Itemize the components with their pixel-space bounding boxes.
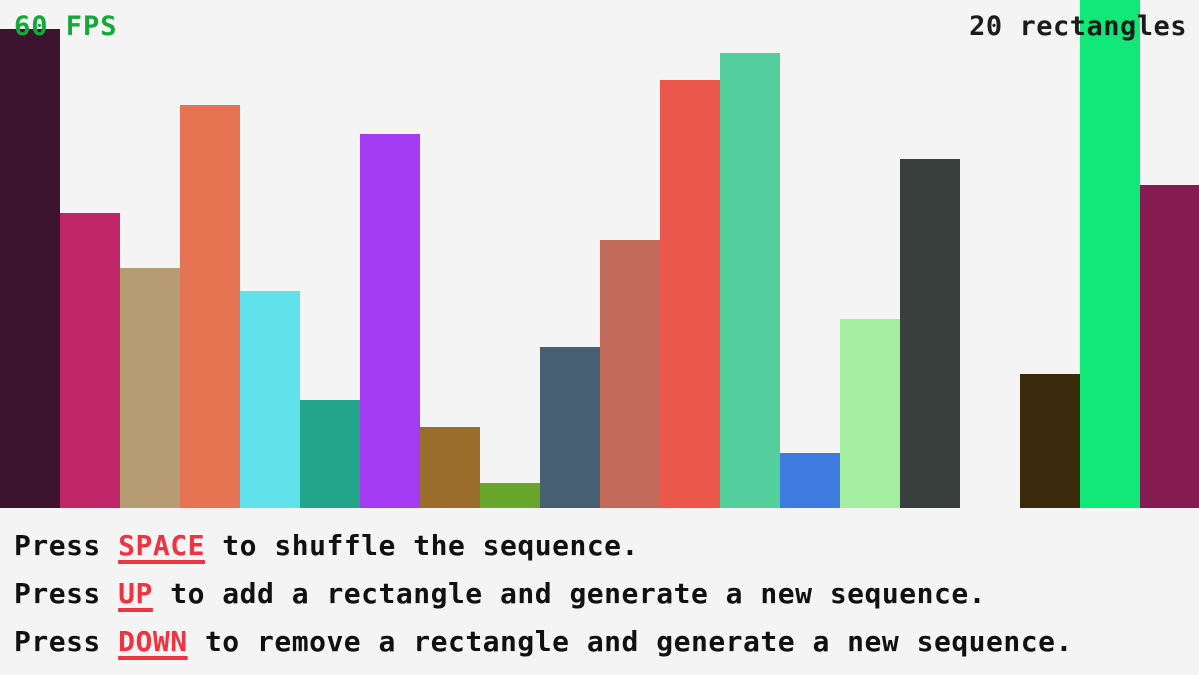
bar-12 (660, 80, 720, 508)
rectangle-count-label: 20 rectangles (969, 11, 1187, 42)
key-space[interactable]: SPACE (118, 529, 205, 562)
instruction-line-shuffle: Press SPACE to shuffle the sequence. (14, 522, 1199, 570)
bar-5 (240, 291, 300, 508)
bar-10 (540, 347, 600, 508)
instruction-suffix: to remove a rectangle and generate a new… (188, 625, 1073, 658)
bar-6 (300, 400, 360, 508)
bar-chart (0, 0, 1199, 508)
bar-9 (480, 483, 540, 508)
bar-8 (420, 427, 480, 508)
instruction-suffix: to add a rectangle and generate a new se… (153, 577, 986, 610)
bar-2 (60, 213, 120, 508)
instruction-suffix: to shuffle the sequence. (205, 529, 639, 562)
bar-18 (1020, 374, 1080, 508)
bar-7 (360, 134, 420, 508)
instruction-prefix: Press (14, 625, 118, 658)
bar-19 (1080, 0, 1140, 508)
bar-14 (780, 453, 840, 508)
bar-15 (840, 319, 900, 508)
bar-4 (180, 105, 240, 508)
bar-3 (120, 268, 180, 508)
fps-counter: 60 FPS (14, 11, 118, 42)
key-down[interactable]: DOWN (118, 625, 187, 658)
instruction-prefix: Press (14, 529, 118, 562)
instruction-line-remove: Press DOWN to remove a rectangle and gen… (14, 618, 1199, 666)
app-window: 60 FPS 20 rectangles Press SPACE to shuf… (0, 0, 1199, 675)
instruction-prefix: Press (14, 577, 118, 610)
bar-1 (0, 29, 60, 508)
bar-11 (600, 240, 660, 508)
key-up[interactable]: UP (118, 577, 153, 610)
bar-20 (1140, 185, 1199, 508)
bar-13 (720, 53, 780, 508)
instruction-line-add: Press UP to add a rectangle and generate… (14, 570, 1199, 618)
bar-16 (900, 159, 960, 508)
instructions-panel: Press SPACE to shuffle the sequence. Pre… (0, 508, 1199, 675)
